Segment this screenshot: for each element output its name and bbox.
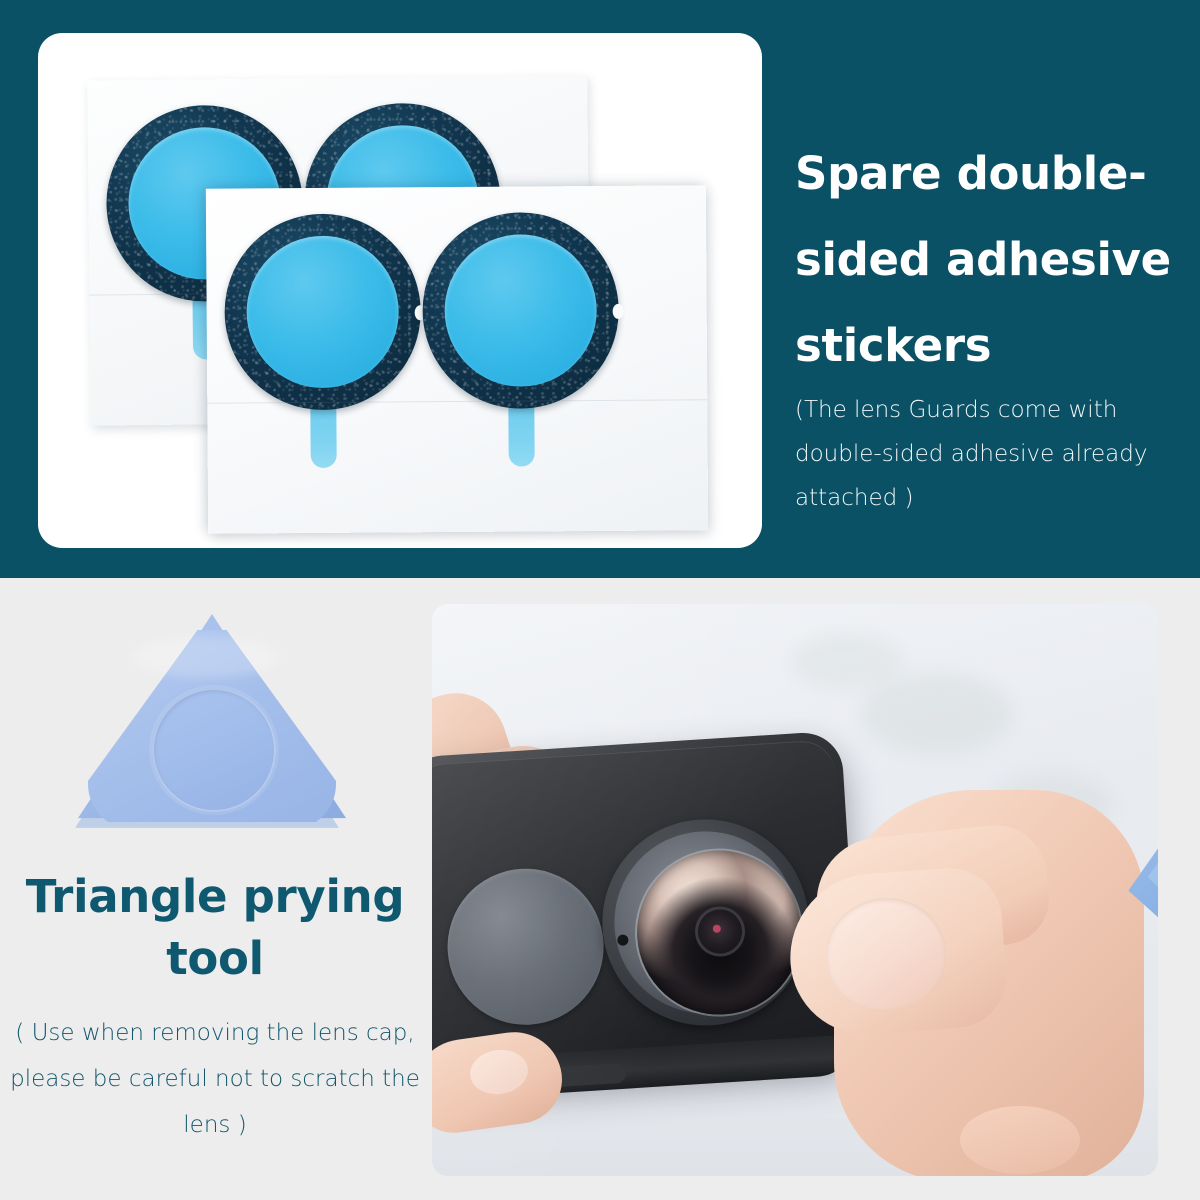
tool-circular-recess: [152, 688, 276, 812]
triangle-prying-tool-figure: [78, 614, 346, 846]
lens-guard-glass: [444, 234, 597, 387]
lens-guard-sticker: [224, 213, 422, 482]
lens-guard-sticker: [422, 212, 620, 481]
usage-demo-photo: [432, 604, 1158, 1176]
ring-notch: [613, 304, 624, 319]
camera-lens-iris: [694, 905, 747, 958]
top-section: Spare double-sided adhesive stickers (Th…: [0, 0, 1200, 578]
tool-usage-note: ( Use when removing the lens cap, please…: [0, 1010, 430, 1148]
headline-spare-stickers: Spare double-sided adhesive stickers: [795, 131, 1187, 389]
sticker-sheet-front: [206, 185, 708, 533]
right-hand-knuckle: [960, 1106, 1080, 1174]
photo-background-blur: [792, 634, 902, 689]
lens-guard-glass: [246, 235, 399, 388]
held-triangle-prying-tool: [1114, 752, 1158, 962]
tool-highlight: [130, 636, 280, 678]
headline-sub-note: (The lens Guards come with double-sided …: [795, 388, 1175, 520]
held-tool-body: [1114, 752, 1158, 962]
product-photo-card: [38, 33, 762, 548]
tool-heading: Triangle prying tool: [0, 866, 430, 990]
bottom-section: Triangle prying tool ( Use when removing…: [0, 578, 1200, 1200]
camera-microphone-hole: [617, 934, 629, 946]
right-hand: [764, 686, 1158, 1176]
